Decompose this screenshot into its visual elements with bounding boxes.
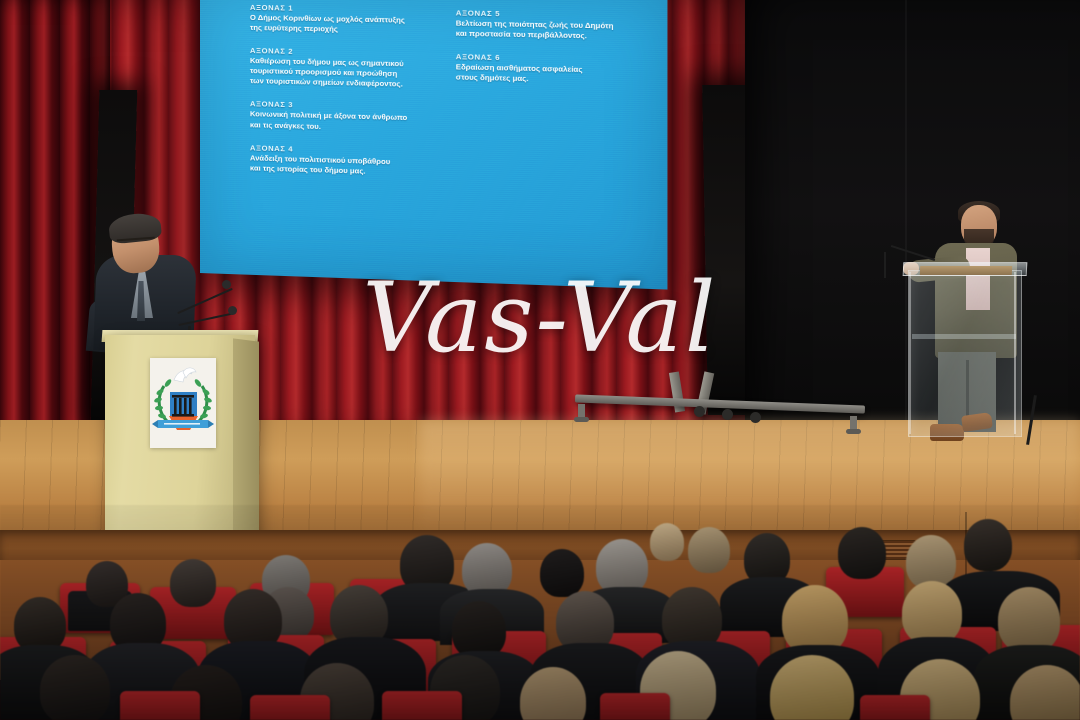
screen-stand-foot-right [850, 416, 857, 430]
screen-stand-caster-1 [694, 406, 705, 417]
axis-5-line-2: και προστασία του περιβάλλοντος. [456, 29, 651, 43]
theater-seat [860, 695, 930, 720]
screen-stand-pad-left [574, 417, 589, 422]
audience-head [170, 559, 216, 607]
audience-area [0, 505, 1080, 720]
screen-stand-pad-right [846, 429, 861, 434]
audience-head [540, 549, 584, 597]
axis-1-line-2: της ευρύτερης περιοχής [250, 23, 439, 37]
slide-column-left: ΑΞΟΝΑΣ 1 Ο Δήμος Κορινθίων ως μοχλός ανά… [250, 3, 439, 192]
lectern-right-edge [1014, 272, 1016, 434]
backdrop-seam [905, 0, 907, 440]
screen-stand-caster-3 [750, 412, 761, 423]
presentation-slide: ΑΞΟΝΑΣ 1 Ο Δήμος Κορινθίων ως μοχλός ανά… [200, 0, 667, 290]
lectern-shelf [912, 334, 1016, 339]
lectern-notes [920, 266, 1012, 275]
audience-head [964, 519, 1012, 571]
podium-microphone-1-head [222, 280, 231, 289]
municipal-emblem [150, 358, 216, 448]
lectern-microphone-stem [884, 252, 886, 278]
audience-head [838, 527, 886, 579]
axis-item-3: ΑΞΟΝΑΣ 3 Κοινωνική πολιτική με άξονα τον… [250, 100, 439, 135]
theater-seat [600, 693, 670, 720]
screen-stand-foot-left [578, 404, 585, 418]
axis-item-6: ΑΞΟΝΑΣ 6 Εδραίωση αισθήματος ασφαλείας σ… [456, 52, 651, 87]
theater-seat [120, 691, 200, 720]
audience-head [40, 655, 110, 720]
audience-head [998, 587, 1060, 653]
podium-microphone-2-head [228, 306, 237, 315]
audience-head-blonde [902, 581, 962, 645]
theater-seat [382, 691, 462, 720]
slide-column-right: ΑΞΟΝΑΣ 5 Βελτίωση της ποιότητας ζωής του… [456, 6, 651, 198]
audience-head [688, 527, 730, 573]
axis-item-5: ΑΞΟΝΑΣ 5 Βελτίωση της ποιότητας ζωής του… [456, 8, 651, 42]
theater-seat [250, 695, 330, 720]
axis-item-4: ΑΞΟΝΑΣ 4 Ανάδειξη του πολιτιστικού υποβά… [250, 143, 439, 179]
axis-item-2: ΑΞΟΝΑΣ 2 Καθιέρωση του δήμου μας ως σημα… [250, 46, 439, 91]
acrylic-lectern [908, 270, 1022, 437]
audience-head [650, 523, 684, 561]
coat-of-arms-icon [150, 358, 216, 448]
projection-screen: ΑΞΟΝΑΣ 1 Ο Δήμος Κορινθίων ως μοχλός ανά… [200, 0, 667, 290]
screen-stand-caster-2 [722, 409, 733, 420]
axis-item-1: ΑΞΟΝΑΣ 1 Ο Δήμος Κορινθίων ως μοχλός ανά… [250, 3, 439, 37]
lectern-left-edge [909, 272, 911, 434]
auditorium-scene: ΑΞΟΝΑΣ 1 Ο Δήμος Κορινθίων ως μοχλός ανά… [0, 0, 1080, 720]
